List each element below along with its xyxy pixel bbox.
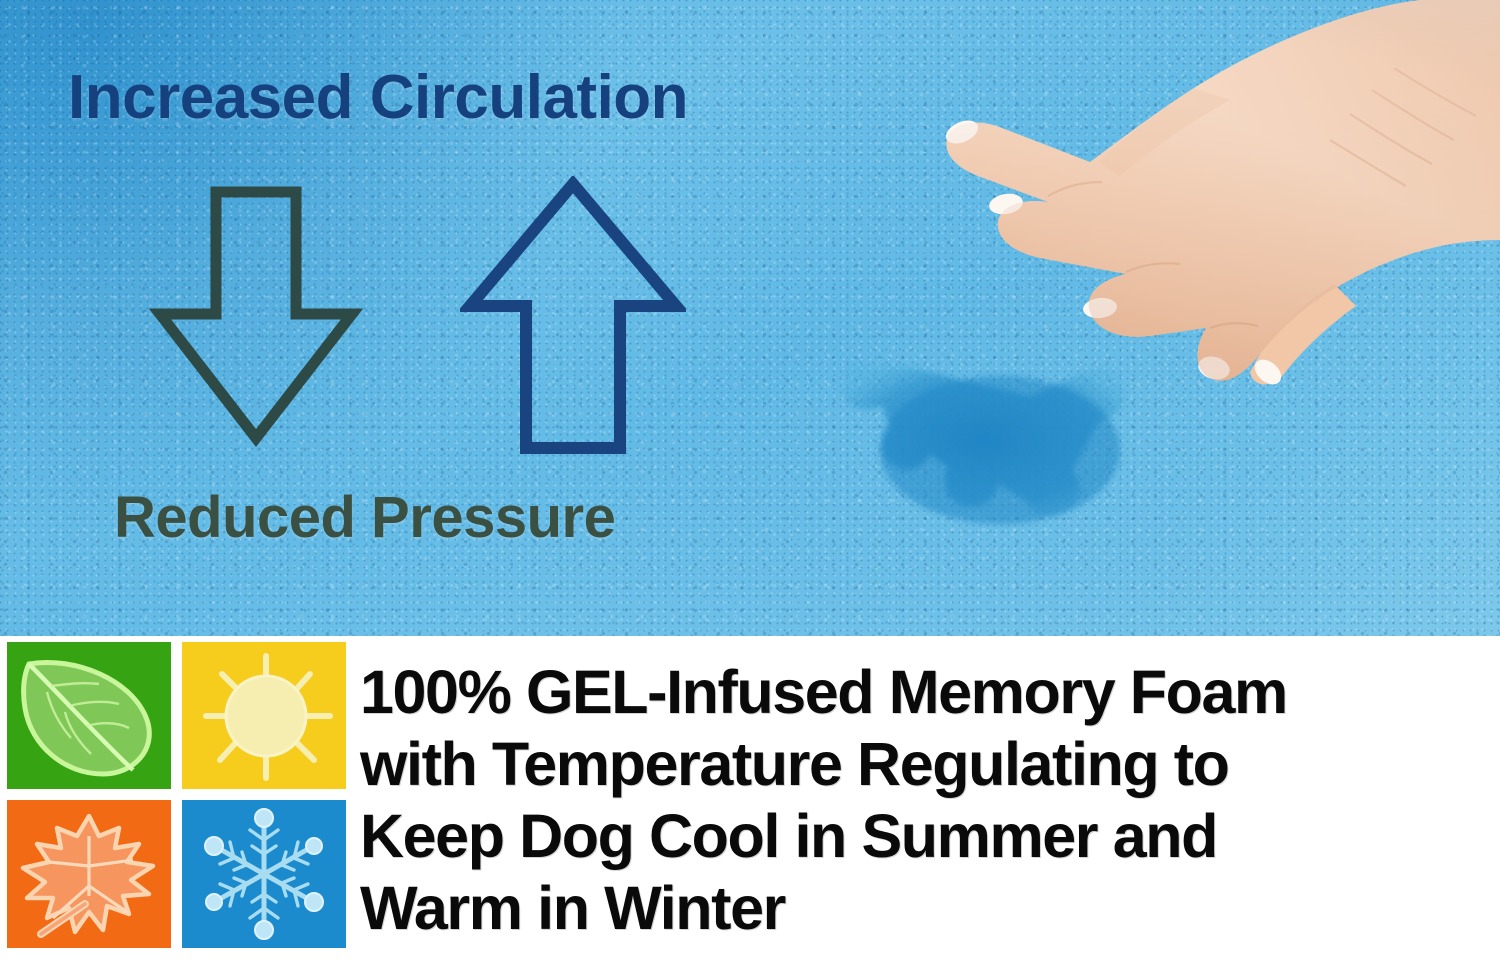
leaf-icon [7,642,171,789]
marketing-copy: 100% GEL-Infused Memory Foam with Temper… [360,656,1500,944]
copy-line-4: Warm in Winter [360,872,1500,944]
tile-autumn-maple-leaf [7,800,171,948]
tile-winter-snowflake [182,800,346,948]
feature-panel: 100% GEL-Infused Memory Foam with Temper… [0,636,1500,962]
snowflake-icon [182,800,346,948]
product-feature-image: Increased Circulation Reduced Pressure [0,0,1500,962]
copy-line-2: with Temperature Regulating to [360,728,1500,800]
season-icon-grid [7,642,346,954]
tile-spring-leaf [7,642,171,789]
copy-line-1: 100% GEL-Infused Memory Foam [360,656,1500,728]
down-arrow-icon [148,186,364,450]
up-arrow-icon [460,176,686,456]
tile-summer-sun [182,642,346,789]
increased-circulation-label: Increased Circulation [68,62,688,133]
sun-icon [182,642,346,789]
copy-line-3: Keep Dog Cool in Summer and [360,800,1500,872]
foam-photo: Increased Circulation Reduced Pressure [0,0,1500,636]
reduced-pressure-label: Reduced Pressure [114,484,615,551]
maple-leaf-icon [7,800,171,948]
